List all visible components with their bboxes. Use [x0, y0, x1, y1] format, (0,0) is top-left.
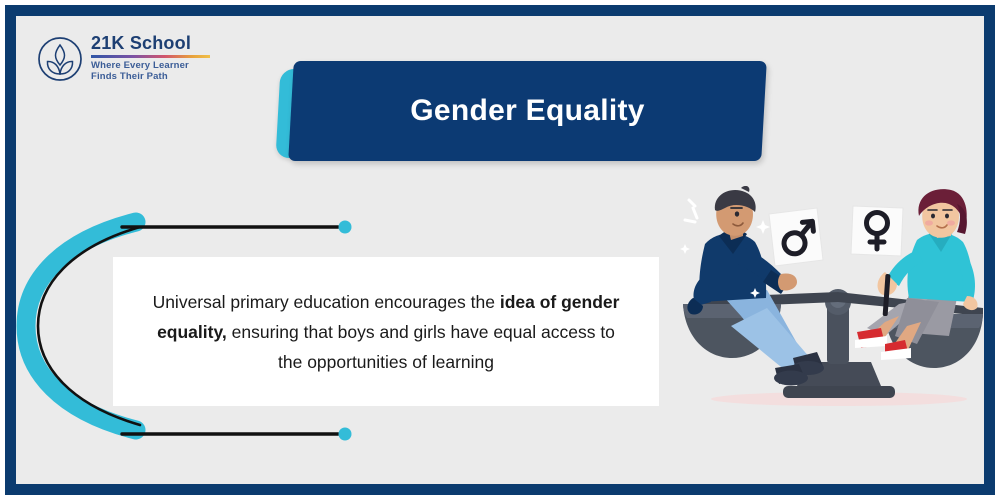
title-banner: Gender Equality: [268, 56, 768, 181]
body-text-part-3: ensuring that boys and girls have equal …: [227, 322, 615, 372]
page-title: Gender Equality: [291, 61, 764, 161]
logo-tagline: Where Every Learner Finds Their Path: [91, 60, 266, 83]
slide-canvas: 21K School Where Every Learner Finds The…: [16, 16, 984, 484]
logo-text-block: 21K School Where Every Learner Finds The…: [91, 32, 266, 83]
brand-logo[interactable]: 21K School Where Every Learner Finds The…: [37, 32, 267, 92]
logo-tagline-line1: Where Every Learner: [91, 60, 266, 72]
logo-gradient-rule: [91, 55, 210, 58]
body-text: Universal primary education encourages t…: [151, 287, 621, 377]
slide-root: 21K School Where Every Learner Finds The…: [0, 0, 1000, 500]
logo-name: 21K School: [91, 32, 266, 54]
scale-base-plate: [783, 386, 895, 398]
male-symbol-sign: [769, 208, 823, 266]
gender-equality-balance-scale-illustration: [671, 186, 984, 416]
body-text-part-1: Universal primary education encourages t…: [153, 292, 500, 312]
male-hand: [778, 273, 797, 290]
lotus-circle-icon: [37, 36, 83, 82]
logo-tagline-line2: Finds Their Path: [91, 71, 266, 83]
body-text-card: Universal primary education encourages t…: [113, 257, 659, 406]
